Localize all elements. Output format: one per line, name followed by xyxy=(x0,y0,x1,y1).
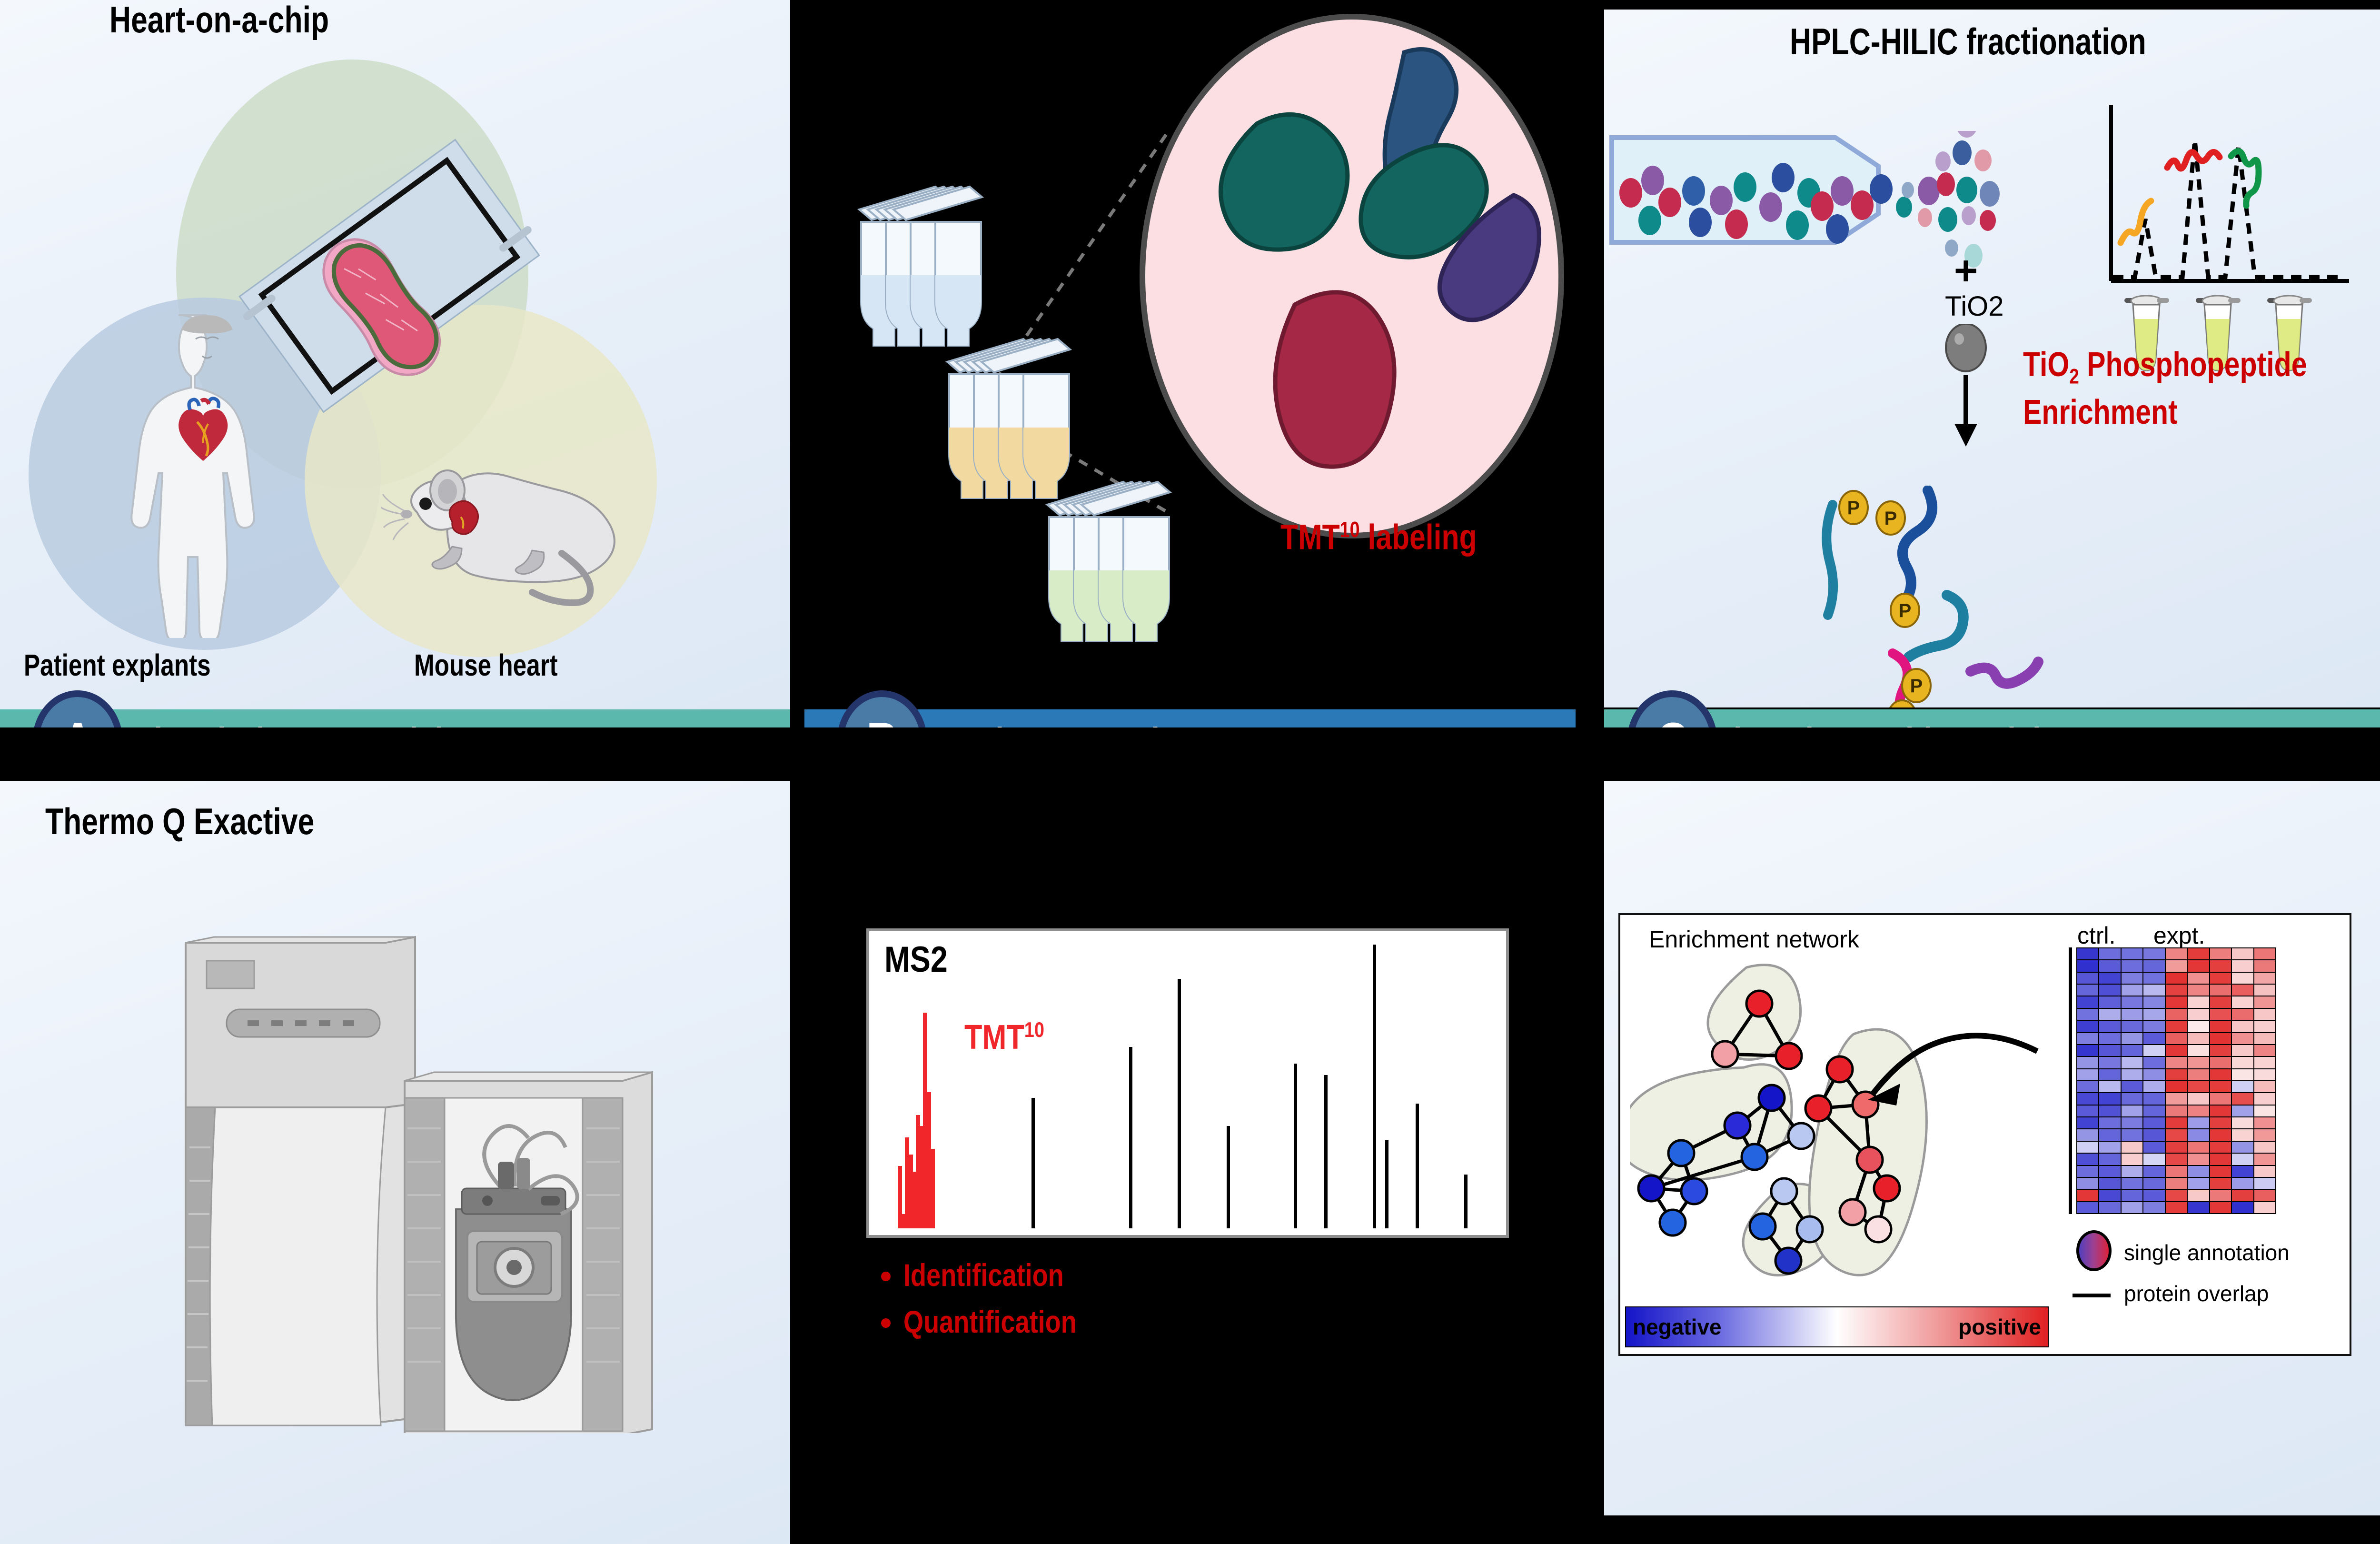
heatmap-cell xyxy=(2143,1190,2164,1201)
heatmap-cell xyxy=(2210,948,2231,959)
heatmap-cell xyxy=(2122,1166,2142,1177)
heatmap-cell xyxy=(2122,973,2142,984)
svg-text:P: P xyxy=(1847,498,1860,518)
tio2-enrichment-label: TiO2 Phosphopeptide Enrichment xyxy=(2023,343,2320,434)
heatmap-cell xyxy=(2210,1021,2231,1032)
list-item: Quantification xyxy=(903,1304,1115,1340)
heatmap-cell xyxy=(2254,1142,2275,1153)
heatmap-cell xyxy=(2143,996,2164,1007)
heatmap-cell xyxy=(2188,1154,2209,1165)
panel-e: MS2 TMT10 IdentificationQuantification M… xyxy=(804,781,1576,1544)
heatmap-cell xyxy=(2099,1166,2120,1177)
heatmap-cell xyxy=(2232,1106,2253,1116)
heatmap-cell xyxy=(2143,1093,2164,1104)
heatmap-cell xyxy=(2210,1106,2231,1116)
heatmap-cell xyxy=(2210,1202,2231,1213)
heatmap-cell xyxy=(2232,1069,2253,1080)
heatmap-cell xyxy=(2122,1069,2142,1080)
heatmap-cell xyxy=(2143,1178,2164,1189)
spectrum-peak xyxy=(931,1149,935,1228)
heatmap-cell xyxy=(2166,1166,2187,1177)
heatmap-cell xyxy=(2143,1117,2164,1128)
spectrum-peaks xyxy=(885,945,1495,1228)
heatmap-cell xyxy=(2122,1202,2142,1213)
heatmap-cell xyxy=(2122,1093,2142,1104)
ms2-spectrum-box: MS2 TMT10 xyxy=(866,928,1509,1238)
heatmap-cell xyxy=(2232,1009,2253,1020)
heatmap-cell xyxy=(2166,1190,2187,1201)
panel-c-body: HPLC-HILIC fractionation xyxy=(1604,10,2380,707)
heatmap-cell xyxy=(2122,1178,2142,1189)
heatmap-cell xyxy=(2254,1033,2275,1044)
heatmap-cell xyxy=(2122,996,2142,1007)
heatmap-cell xyxy=(2099,1057,2120,1068)
heatmap-cell xyxy=(2166,948,2187,959)
heatmap-cell xyxy=(2099,960,2120,971)
heatmap-cell xyxy=(2143,1106,2164,1116)
heatmap-cell xyxy=(2210,1142,2231,1153)
heatmap-cell xyxy=(2077,1178,2098,1189)
heatmap-cell xyxy=(2099,996,2120,1007)
heatmap-cell xyxy=(2188,1069,2209,1080)
heatmap-cell xyxy=(2232,1081,2253,1092)
heatmap-cell xyxy=(2232,973,2253,984)
heatmap-cell xyxy=(2166,996,2187,1007)
heatmap-axis-line xyxy=(2069,947,2072,1214)
heatmap-cell xyxy=(2210,1093,2231,1104)
heatmap-cell xyxy=(2210,973,2231,984)
heatmap-cell xyxy=(2143,1154,2164,1165)
heatmap-cell xyxy=(2232,1021,2253,1032)
heatmap-cell xyxy=(2254,1081,2275,1092)
heatmap-cell xyxy=(2232,996,2253,1007)
legend-protein-overlap-label: protein overlap xyxy=(2124,1281,2269,1306)
heatmap-cell xyxy=(2122,1129,2142,1140)
heatmap-cell xyxy=(2077,1202,2098,1213)
heatmap-cell xyxy=(2077,1166,2098,1177)
heatmap-cell xyxy=(2122,1045,2142,1056)
heatmap-cell xyxy=(2188,985,2209,996)
heatmap-cell xyxy=(2099,1117,2120,1128)
heatmap-cell xyxy=(2254,1178,2275,1189)
heatmap-cell xyxy=(2077,996,2098,1007)
heatmap-cell xyxy=(2188,1057,2209,1068)
panel-b-bar-text: Sample Preparation xyxy=(914,722,1196,727)
heatmap-cell xyxy=(2122,1106,2142,1116)
heatmap-cell xyxy=(2232,1129,2253,1140)
heatmap-cell xyxy=(2099,985,2120,996)
heatmap-cell xyxy=(2232,1190,2253,1201)
panel-a-body: Heart-on-a-chip Patient explants Mouse h… xyxy=(0,0,790,727)
heatmap-cell xyxy=(2077,973,2098,984)
panel-a-label-patient: Patient explants xyxy=(24,647,211,683)
heatmap-cell xyxy=(2122,1021,2142,1032)
spectrum-peak xyxy=(1227,1126,1230,1228)
heatmap-cell xyxy=(2099,1129,2120,1140)
heatmap-cell xyxy=(2188,1202,2209,1213)
spectrum-peak xyxy=(1464,1175,1468,1228)
heatmap-cell xyxy=(2166,1129,2187,1140)
heatmap-cell xyxy=(2232,948,2253,959)
heatmap-cell xyxy=(2232,1033,2253,1044)
heatmap-cell xyxy=(2166,1009,2187,1020)
heatmap-cell xyxy=(2166,1093,2187,1104)
heatmap-cell xyxy=(2077,1117,2098,1128)
heatmap-cell xyxy=(2188,960,2209,971)
heatmap-cell xyxy=(2210,1129,2231,1140)
svg-text:P: P xyxy=(1899,600,1912,621)
heatmap-cell xyxy=(2099,1069,2120,1080)
panel-a: Heart-on-a-chip Patient explants Mouse h… xyxy=(0,0,790,727)
heatmap-cell xyxy=(2077,1142,2098,1153)
heatmap-cell xyxy=(2077,1190,2098,1201)
heatmap-cell xyxy=(2166,1069,2187,1080)
heatmap-cell xyxy=(2210,1069,2231,1080)
heatmap-cell xyxy=(2166,985,2187,996)
heatmap-cell xyxy=(2188,1178,2209,1189)
heatmap-cell xyxy=(2077,1069,2098,1080)
chromatogram-plot xyxy=(2106,100,2354,300)
heatmap-cell xyxy=(2188,1117,2209,1128)
panel-e-bullets: IdentificationQuantification xyxy=(876,1257,1115,1350)
panel-d-title: Thermo Q Exactive xyxy=(45,800,314,843)
heatmap-cell xyxy=(2099,1154,2120,1165)
heatmap-cell xyxy=(2077,1106,2098,1116)
spectrum-peak xyxy=(1385,1140,1388,1228)
heatmap-cell xyxy=(2143,985,2164,996)
tio2-small-label: TiO2 xyxy=(1945,290,2004,322)
heatmap-cell xyxy=(2122,1117,2142,1128)
panel-c: HPLC-HILIC fractionation xyxy=(1590,0,2380,727)
mass-spectrometer-illustration xyxy=(157,924,662,1433)
heatmap-cell xyxy=(2232,1178,2253,1189)
heatmap-cell xyxy=(2077,1033,2098,1044)
heatmap-cell xyxy=(2099,1106,2120,1116)
panel-f-body: Enrichment network xyxy=(1604,781,2380,1515)
panel-b: TMT10 labeling Sample Preparation B xyxy=(804,0,1576,727)
heatmap-cell xyxy=(2122,1057,2142,1068)
heatmap-cell xyxy=(2077,1009,2098,1020)
svg-text:P: P xyxy=(1910,676,1923,697)
heatmap-cell xyxy=(2099,1202,2120,1213)
heatmap-cell xyxy=(2254,1057,2275,1068)
heatmap-cell xyxy=(2254,1117,2275,1128)
heatmap-cell xyxy=(2232,1057,2253,1068)
colorbar-high-label: positive xyxy=(1958,1314,2041,1340)
heatmap-cell xyxy=(2077,948,2098,959)
heatmap-cell xyxy=(2143,1021,2164,1032)
heatmap-cell xyxy=(2188,948,2209,959)
heatmap-cell xyxy=(2077,1093,2098,1104)
heatmap-cell xyxy=(2099,1093,2120,1104)
heatmap-cell xyxy=(2254,985,2275,996)
heatmap-cell xyxy=(2254,1045,2275,1056)
heatmap-cell xyxy=(2188,1045,2209,1056)
heatmap-cell xyxy=(2210,1178,2231,1189)
heatmap-cell xyxy=(2166,1142,2187,1153)
heatmap-cell xyxy=(2122,1033,2142,1044)
heatmap-cell xyxy=(2166,1154,2187,1165)
heatmap-cell xyxy=(2077,1154,2098,1165)
heatmap-cell xyxy=(2254,1021,2275,1032)
panel-d-body: Thermo Q Exactive xyxy=(0,781,790,1544)
svg-text:P: P xyxy=(1884,508,1897,529)
heatmap-cell xyxy=(2122,948,2142,959)
heatmap-cell xyxy=(2122,1142,2142,1153)
heatmap-cell xyxy=(2099,1009,2120,1020)
heatmap-cell xyxy=(2232,1142,2253,1153)
heatmap-cell xyxy=(2232,1117,2253,1128)
panel-b-badge-letter: B xyxy=(866,715,898,728)
heatmap-cell xyxy=(2254,960,2275,971)
heatmap-cell xyxy=(2210,1081,2231,1092)
panel-c-badge-letter: C xyxy=(1656,715,1688,728)
tio2-bead-and-arrow xyxy=(1933,324,2013,462)
phosphopeptides-illustration: P P P P P xyxy=(1804,486,2232,707)
list-item: Identification xyxy=(903,1257,1115,1293)
heatmap-cell xyxy=(2122,1009,2142,1020)
heatmap-cell xyxy=(2099,948,2120,959)
tube-rack-3 xyxy=(1038,471,1238,662)
heatmap-cell xyxy=(2166,1117,2187,1128)
heatmap-cell xyxy=(2188,1106,2209,1116)
heatmap-cell xyxy=(2099,1190,2120,1201)
heatmap-cell xyxy=(2210,1154,2231,1165)
heatmap-cell xyxy=(2254,948,2275,959)
heatmap-cell xyxy=(2232,985,2253,996)
heatmap-cell xyxy=(2254,1069,2275,1080)
heatmap-cell xyxy=(2143,1033,2164,1044)
protein-closeup-circle xyxy=(1138,10,1566,543)
heatmap-cell xyxy=(2166,1106,2187,1116)
heatmap-cell xyxy=(2188,1190,2209,1201)
heatmap-cell xyxy=(2254,1129,2275,1140)
heatmap-cell xyxy=(2099,1081,2120,1092)
heatmap-cell xyxy=(2188,1033,2209,1044)
heatmap-cell xyxy=(2188,1166,2209,1177)
heatmap-cell xyxy=(2077,1129,2098,1140)
human-body-icon xyxy=(102,305,312,638)
spectrum-peak xyxy=(1031,1098,1035,1228)
heatmap-cell xyxy=(2122,985,2142,996)
heatmap-cell xyxy=(2210,996,2231,1007)
heatmap-cell xyxy=(2210,1045,2231,1056)
heatmap-grid xyxy=(2076,947,2276,1214)
legend-single-annotation-label: single annotation xyxy=(2124,1240,2290,1265)
heatmap-cell xyxy=(2099,1021,2120,1032)
heatmap-cell xyxy=(2143,1129,2164,1140)
heatmap-cell xyxy=(2210,1057,2231,1068)
heatmap-cell xyxy=(2122,960,2142,971)
heatmap-cell xyxy=(2188,1021,2209,1032)
heatmap-cell xyxy=(2254,1093,2275,1104)
heatmap-cell xyxy=(2077,1081,2098,1092)
heatmap-cell xyxy=(2099,973,2120,984)
panel-d: Thermo Q Exactive xyxy=(0,781,790,1544)
heatmap-cell xyxy=(2143,1009,2164,1020)
heatmap-cell xyxy=(2254,1009,2275,1020)
heatmap-cell xyxy=(2254,973,2275,984)
heatmap-cell xyxy=(2099,1033,2120,1044)
heatmap-cell xyxy=(2077,960,2098,971)
panel-f-outer: Enrichment network xyxy=(1590,781,2380,1544)
spectrum-peak xyxy=(1129,1047,1132,1228)
heatmap-cell xyxy=(2166,1021,2187,1032)
spectrum-peak xyxy=(1324,1075,1328,1228)
mouse-icon xyxy=(381,419,628,609)
panel-a-badge-letter: A xyxy=(62,715,93,728)
heatmap-cell xyxy=(2232,1202,2253,1213)
heatmap-cell xyxy=(2188,1142,2209,1153)
heatmap-cell xyxy=(2143,948,2164,959)
enrichment-network-graph xyxy=(1630,948,2058,1296)
heatmap-cell xyxy=(2166,1202,2187,1213)
heatmap-cell xyxy=(2188,1129,2209,1140)
heatmap-cell xyxy=(2166,1045,2187,1056)
heatmap-cell xyxy=(2232,1045,2253,1056)
heatmap-cell xyxy=(2232,1166,2253,1177)
heatmap-cell xyxy=(2232,1154,2253,1165)
data-analysis-figure-box: Enrichment network xyxy=(1618,913,2351,1356)
spectrum-peak xyxy=(1294,1064,1297,1228)
heatmap-cell xyxy=(2232,960,2253,971)
heatmap-cell xyxy=(2143,960,2164,971)
heatmap-cell xyxy=(2166,960,2187,971)
colorbar: negative positive xyxy=(1625,1306,2049,1347)
spectrum-peak xyxy=(1373,945,1376,1228)
panel-b-body: TMT10 labeling xyxy=(804,0,1576,727)
panel-c-label-bar: Phosphopeptide Enrichment xyxy=(1604,709,2380,727)
heatmap-cell xyxy=(2254,1154,2275,1165)
heatmap-cell xyxy=(2254,1166,2275,1177)
legend-overlap-line xyxy=(2073,1294,2111,1297)
panel-c-title: HPLC-HILIC fractionation xyxy=(1790,20,2146,63)
hplc-column-illustration xyxy=(1609,131,2009,269)
heatmap-cell xyxy=(2143,1069,2164,1080)
heatmap-cell xyxy=(2143,1142,2164,1153)
heatmap-cell xyxy=(2254,1190,2275,1201)
heatmap-cell xyxy=(2210,1190,2231,1201)
heatmap-cell xyxy=(2210,1033,2231,1044)
heatmap-cell xyxy=(2077,1021,2098,1032)
heatmap-cell xyxy=(2099,1045,2120,1056)
heatmap-cell xyxy=(2254,1202,2275,1213)
panel-f: Enrichment network xyxy=(1590,781,2380,1544)
heatmap-cell xyxy=(2122,1081,2142,1092)
plus-sign: + xyxy=(1954,248,1978,295)
heatmap-cell xyxy=(2166,1178,2187,1189)
tmt-labeling-annotation: TMT10 labeling xyxy=(1280,517,1477,558)
heatmap-cell xyxy=(2122,1154,2142,1165)
panel-a-label-mouse: Mouse heart xyxy=(414,647,558,683)
heatmap-cell xyxy=(2188,1009,2209,1020)
heatmap-cell xyxy=(2077,1057,2098,1068)
panel-c-outer: HPLC-HILIC fractionation xyxy=(1590,0,2380,727)
panel-e-body: MS2 TMT10 IdentificationQuantification xyxy=(804,781,1576,1544)
heatmap-cell xyxy=(2188,1093,2209,1104)
heatmap-cell xyxy=(2188,996,2209,1007)
panel-a-title: Heart-on-a-chip xyxy=(109,0,329,41)
spectrum-peak xyxy=(1416,1104,1419,1228)
heatmap-cell xyxy=(2166,973,2187,984)
heatmap-cell xyxy=(2143,973,2164,984)
heatmap-cell xyxy=(2143,1166,2164,1177)
panel-a-bar-text: 3-Tiered Disease Model Systems xyxy=(109,722,575,727)
heatmap-header-ctrl: ctrl. xyxy=(2077,922,2116,949)
heatmap-cell xyxy=(2077,1045,2098,1056)
heatmap-cell xyxy=(2099,1178,2120,1189)
heatmap-cell xyxy=(2122,1190,2142,1201)
heatmap-cell xyxy=(2188,1081,2209,1092)
heatmap-cell xyxy=(2143,1057,2164,1068)
heatmap-cell xyxy=(2188,973,2209,984)
heatmap-cell xyxy=(2143,1045,2164,1056)
spectrum-peak xyxy=(1178,979,1181,1228)
heatmap-cell xyxy=(2166,1057,2187,1068)
heatmap-cell xyxy=(2210,1166,2231,1177)
heatmap-cell xyxy=(2254,1106,2275,1116)
heatmap-cell xyxy=(2077,985,2098,996)
svg-text:P: P xyxy=(1896,707,1909,707)
legend-annotation-icon xyxy=(2073,1229,2115,1272)
figure-root: Heart-on-a-chip Patient explants Mouse h… xyxy=(0,0,2380,1544)
heatmap-cell xyxy=(2143,1202,2164,1213)
heatmap-cell xyxy=(2210,1009,2231,1020)
heatmap-cell xyxy=(2143,1081,2164,1092)
heatmap-cell xyxy=(2210,1117,2231,1128)
heatmap-cell xyxy=(2210,960,2231,971)
heatmap-cell xyxy=(2254,996,2275,1007)
heatmap-header-expt: expt. xyxy=(2153,922,2205,949)
heatmap-cell xyxy=(2210,985,2231,996)
heatmap-cell xyxy=(2099,1142,2120,1153)
heatmap-cell xyxy=(2232,1093,2253,1104)
heatmap-cell xyxy=(2166,1081,2187,1092)
heatmap-cell xyxy=(2166,1033,2187,1044)
panel-c-bar-text: Phosphopeptide Enrichment xyxy=(1714,722,2122,727)
colorbar-low-label: negative xyxy=(1633,1314,1722,1340)
